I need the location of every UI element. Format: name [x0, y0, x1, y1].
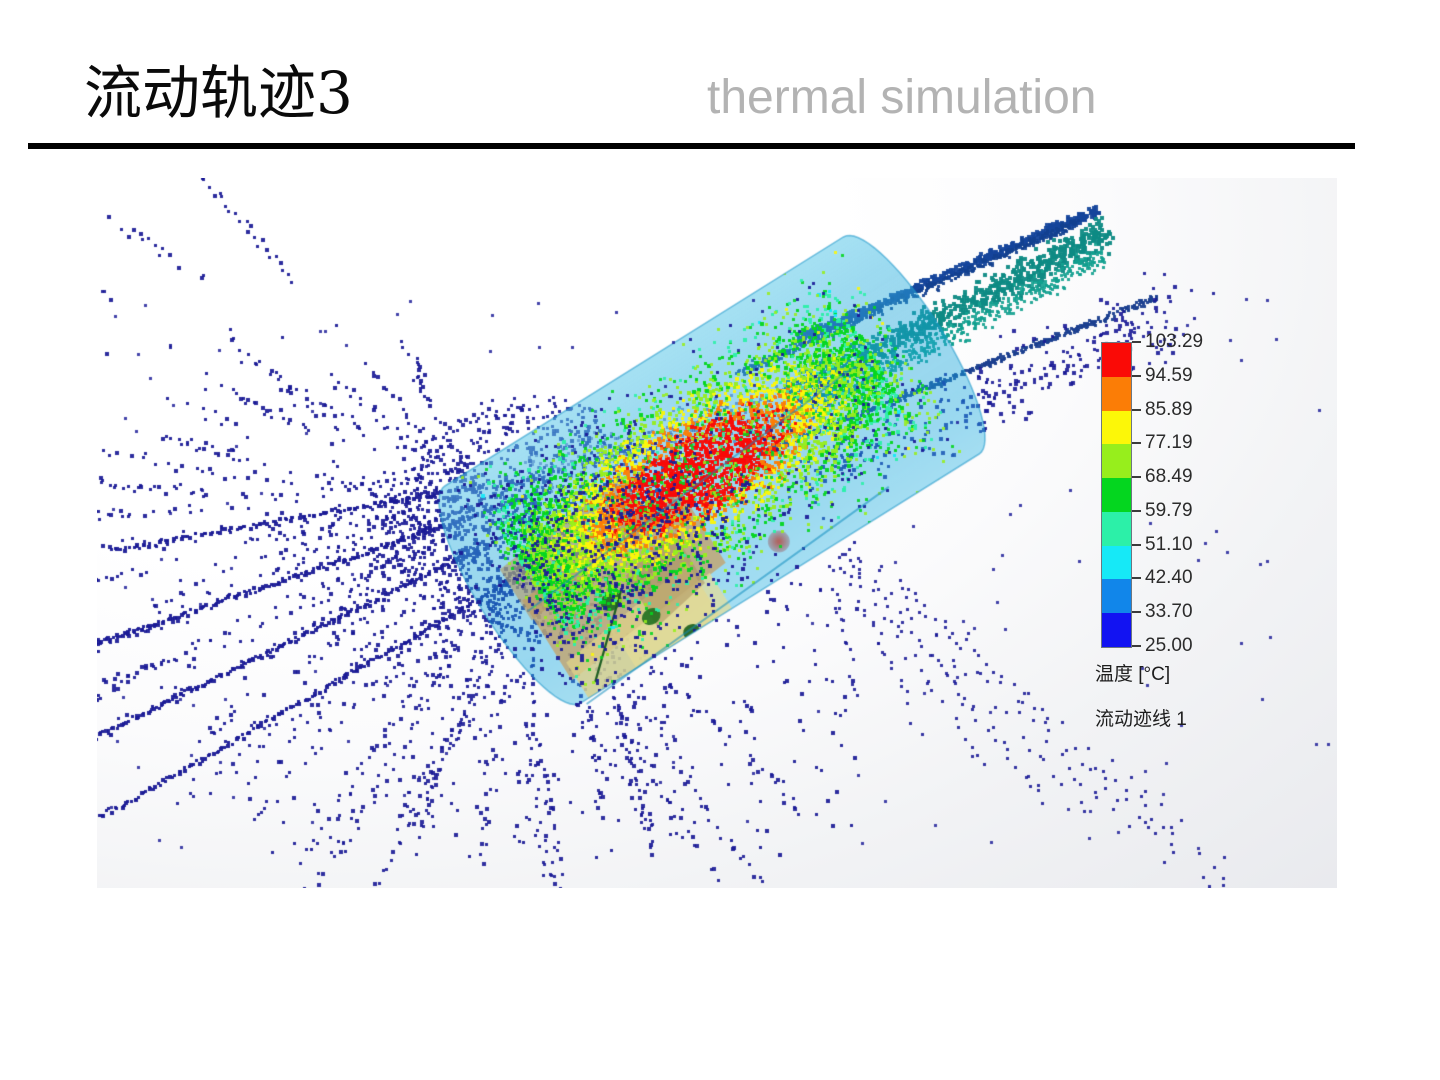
legend-value-0: 103.29 — [1145, 332, 1203, 352]
legend-series-label: 流动迹线 1 — [1095, 709, 1187, 731]
legend-tick-3 — [1132, 442, 1141, 444]
legend-tick-1 — [1132, 375, 1141, 377]
legend-value-3: 77.19 — [1145, 433, 1193, 453]
legend-tick-7 — [1132, 577, 1141, 579]
temperature-color-legend: 103.2994.5985.8977.1968.4959.7951.1042.4… — [1101, 338, 1276, 728]
legend-value-6: 51.10 — [1145, 535, 1193, 555]
color-band-6 — [1102, 546, 1131, 580]
page-title: 流动轨迹3 — [84, 58, 353, 128]
title-divider-rule — [28, 143, 1355, 149]
color-band-4 — [1102, 478, 1131, 512]
color-band-3 — [1102, 444, 1131, 478]
color-scale-ticks — [1132, 342, 1142, 648]
slide-subtitle: thermal simulation — [707, 68, 1096, 128]
color-band-1 — [1102, 377, 1131, 411]
legend-value-2: 85.89 — [1145, 400, 1193, 420]
legend-tick-5 — [1132, 510, 1141, 512]
color-scale-bar — [1101, 342, 1132, 648]
legend-tick-8 — [1132, 611, 1141, 613]
color-band-0 — [1102, 343, 1131, 377]
legend-value-1: 94.59 — [1145, 366, 1193, 386]
slide-header: 流动轨迹3 thermal simulation — [0, 0, 1440, 160]
legend-unit-label: 温度 [°C] — [1095, 664, 1170, 686]
legend-tick-6 — [1132, 544, 1141, 546]
legend-value-9: 25.00 — [1145, 636, 1193, 656]
color-band-5 — [1102, 512, 1131, 546]
legend-tick-0 — [1132, 341, 1141, 343]
legend-tick-9 — [1132, 645, 1141, 647]
legend-value-4: 68.49 — [1145, 467, 1193, 487]
simulation-viewport[interactable]: 103.2994.5985.8977.1968.4959.7951.1042.4… — [97, 178, 1337, 888]
color-band-7 — [1102, 579, 1131, 613]
legend-value-7: 42.40 — [1145, 568, 1193, 588]
legend-tick-4 — [1132, 476, 1141, 478]
legend-value-8: 33.70 — [1145, 602, 1193, 622]
color-band-2 — [1102, 411, 1131, 445]
color-band-8 — [1102, 613, 1131, 647]
legend-value-5: 59.79 — [1145, 501, 1193, 521]
legend-tick-2 — [1132, 409, 1141, 411]
color-scale-labels: 103.2994.5985.8977.1968.4959.7951.1042.4… — [1145, 338, 1265, 658]
